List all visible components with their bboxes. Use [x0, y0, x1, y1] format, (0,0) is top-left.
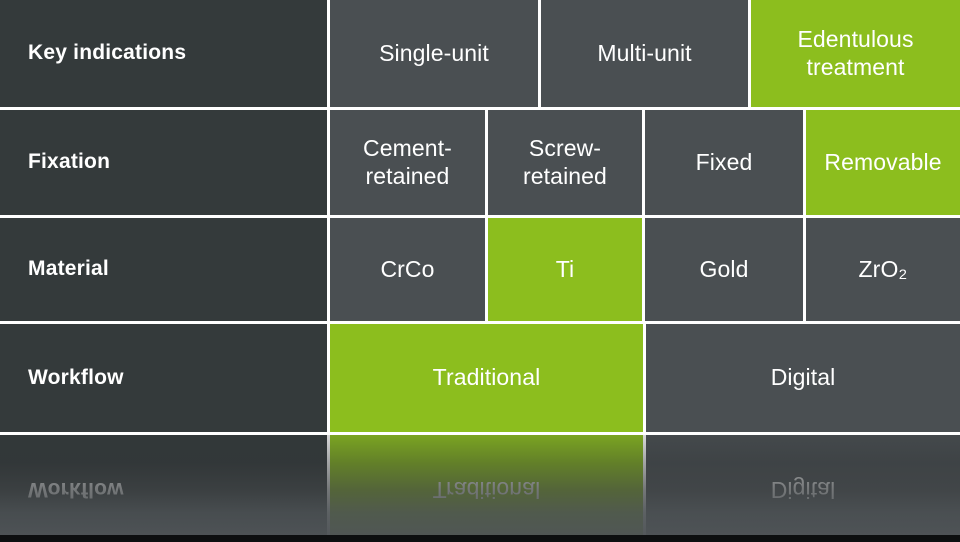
table-row: Fixation Cement-retained Screw-retained …: [0, 110, 960, 215]
table-row: Material CrCo Ti Gold ZrO₂: [0, 218, 960, 321]
reflection-cell-text: Digital: [763, 475, 844, 502]
reflection-cell-traditional: Traditional: [330, 435, 643, 535]
row-label-fixation[interactable]: Fixation: [0, 110, 327, 215]
row-label-text: Workflow: [28, 366, 124, 391]
cell-ti[interactable]: Ti: [488, 218, 642, 321]
row-label-workflow[interactable]: Workflow: [0, 324, 327, 432]
cell-text: Screw-retained: [488, 135, 642, 189]
slide-canvas: Key indications Single-unit Multi-unit E…: [0, 0, 960, 542]
cell-crco[interactable]: CrCo: [330, 218, 485, 321]
reflection-row-label-workflow: Workflow: [0, 435, 327, 535]
cell-traditional[interactable]: Traditional: [330, 324, 643, 432]
cell-removable[interactable]: Removable: [806, 110, 960, 215]
cell-text: Multi-unit: [589, 40, 699, 67]
cell-fixed[interactable]: Fixed: [645, 110, 803, 215]
cell-gold[interactable]: Gold: [645, 218, 803, 321]
row-label-key-indications[interactable]: Key indications: [0, 0, 327, 107]
cell-text: Edentulous treatment: [751, 26, 960, 80]
cell-multi-unit[interactable]: Multi-unit: [541, 0, 748, 107]
cell-cement-retained[interactable]: Cement-retained: [330, 110, 485, 215]
cell-digital[interactable]: Digital: [646, 324, 960, 432]
table-row: Workflow Traditional Digital: [0, 324, 960, 432]
cell-text: CrCo: [372, 256, 442, 283]
reflection-cell-text: Traditional: [425, 475, 549, 502]
cell-text: Fixed: [688, 149, 761, 176]
cell-text: Removable: [816, 149, 949, 176]
reflection-cell-digital: Digital: [646, 435, 960, 535]
slide-bottom-strip: [0, 535, 960, 542]
cell-text: Traditional: [425, 364, 549, 391]
row-label-text: Material: [28, 257, 109, 282]
cell-zro2[interactable]: ZrO₂: [806, 218, 960, 321]
row-label-text: Key indications: [28, 41, 186, 66]
table-reflection: Workflow Traditional Digital: [0, 435, 960, 535]
table-row: Key indications Single-unit Multi-unit E…: [0, 0, 960, 107]
cell-text: Digital: [763, 364, 844, 391]
cell-text: Single-unit: [371, 40, 497, 67]
cell-text: Ti: [548, 256, 583, 283]
reflection-row-label-text: Workflow: [28, 477, 124, 502]
cell-text: ZrO₂: [851, 256, 916, 283]
row-label-text: Fixation: [28, 150, 110, 175]
cell-screw-retained[interactable]: Screw-retained: [488, 110, 642, 215]
comparison-table: Key indications Single-unit Multi-unit E…: [0, 0, 960, 432]
cell-edentulous-treatment[interactable]: Edentulous treatment: [751, 0, 960, 107]
reflection-row: Workflow Traditional Digital: [0, 435, 960, 535]
cell-text: Cement-retained: [330, 135, 485, 189]
cell-text: Gold: [692, 256, 757, 283]
row-label-material[interactable]: Material: [0, 218, 327, 321]
cell-single-unit[interactable]: Single-unit: [330, 0, 538, 107]
